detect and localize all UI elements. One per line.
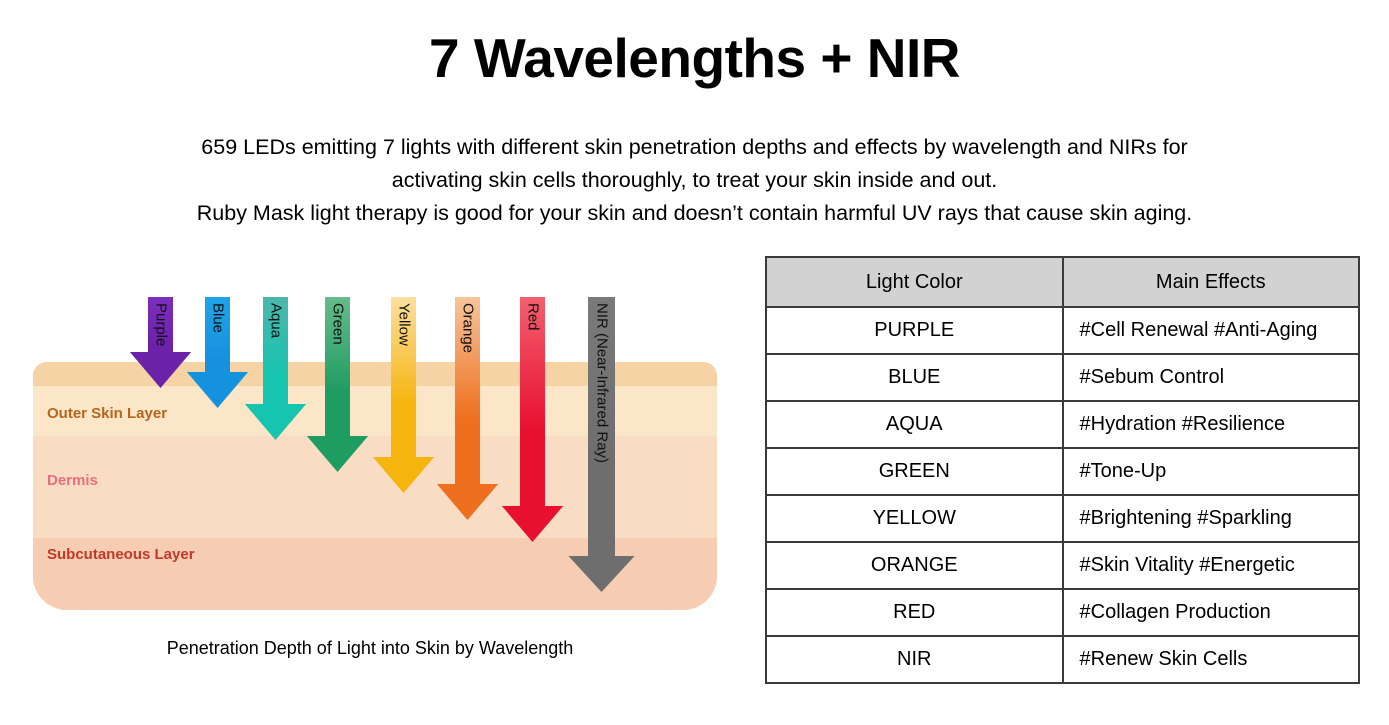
arrow-label: Yellow xyxy=(395,303,412,346)
effects-table: Light Color Main Effects PURPLE#Cell Ren… xyxy=(765,256,1360,684)
cell-light-color: NIR xyxy=(766,636,1063,683)
subtitle-line-2: activating skin cells thoroughly, to tre… xyxy=(0,164,1389,197)
cell-light-color: BLUE xyxy=(766,354,1063,401)
cell-main-effects: #Brightening #Sparkling xyxy=(1063,495,1360,542)
table-row: PURPLE#Cell Renewal #Anti-Aging xyxy=(766,307,1359,354)
table-head: Light Color Main Effects xyxy=(766,257,1359,307)
table-row: ORANGE#Skin Vitality #Energetic xyxy=(766,542,1359,589)
wavelength-arrows-group xyxy=(0,250,740,650)
arrow-red xyxy=(502,297,563,542)
arrow-label: Green xyxy=(329,303,346,345)
table-header-row: Light Color Main Effects xyxy=(766,257,1359,307)
table-row: YELLOW#Brightening #Sparkling xyxy=(766,495,1359,542)
skin-penetration-diagram: Outer Skin Layer Dermis Subcutaneous Lay… xyxy=(0,250,740,690)
cell-main-effects: #Collagen Production xyxy=(1063,589,1360,636)
cell-main-effects: #Sebum Control xyxy=(1063,354,1360,401)
arrow-label: Aqua xyxy=(267,303,284,338)
arrow-label: Purple xyxy=(152,303,169,346)
cell-light-color: GREEN xyxy=(766,448,1063,495)
cell-light-color: ORANGE xyxy=(766,542,1063,589)
cell-main-effects: #Skin Vitality #Energetic xyxy=(1063,542,1360,589)
column-header-light-color: Light Color xyxy=(766,257,1063,307)
subtitle-line-3: Ruby Mask light therapy is good for your… xyxy=(0,197,1389,230)
cell-light-color: PURPLE xyxy=(766,307,1063,354)
cell-main-effects: #Hydration #Resilience xyxy=(1063,401,1360,448)
table-row: NIR#Renew Skin Cells xyxy=(766,636,1359,683)
cell-light-color: RED xyxy=(766,589,1063,636)
column-header-main-effects: Main Effects xyxy=(1063,257,1360,307)
subtitle-block: 659 LEDs emitting 7 lights with differen… xyxy=(0,131,1389,230)
table-row: GREEN#Tone-Up xyxy=(766,448,1359,495)
cell-light-color: YELLOW xyxy=(766,495,1063,542)
cell-main-effects: #Cell Renewal #Anti-Aging xyxy=(1063,307,1360,354)
arrow-label: Orange xyxy=(459,303,476,353)
cell-main-effects: #Renew Skin Cells xyxy=(1063,636,1360,683)
arrow-label: Blue xyxy=(209,303,226,333)
subtitle-line-1: 659 LEDs emitting 7 lights with differen… xyxy=(0,131,1389,164)
arrow-label: Red xyxy=(524,303,541,331)
table-body: PURPLE#Cell Renewal #Anti-AgingBLUE#Sebu… xyxy=(766,307,1359,683)
table-row: RED#Collagen Production xyxy=(766,589,1359,636)
cell-main-effects: #Tone-Up xyxy=(1063,448,1360,495)
diagram-caption: Penetration Depth of Light into Skin by … xyxy=(0,638,740,659)
cell-light-color: AQUA xyxy=(766,401,1063,448)
page-title: 7 Wavelengths + NIR xyxy=(0,31,1389,86)
table-row: BLUE#Sebum Control xyxy=(766,354,1359,401)
effects-table-wrapper: Light Color Main Effects PURPLE#Cell Ren… xyxy=(765,256,1360,684)
arrow-label: NIR (Near-Infrared Ray) xyxy=(593,303,610,463)
table-row: AQUA#Hydration #Resilience xyxy=(766,401,1359,448)
infographic-page: 7 Wavelengths + NIR 659 LEDs emitting 7 … xyxy=(0,0,1389,725)
